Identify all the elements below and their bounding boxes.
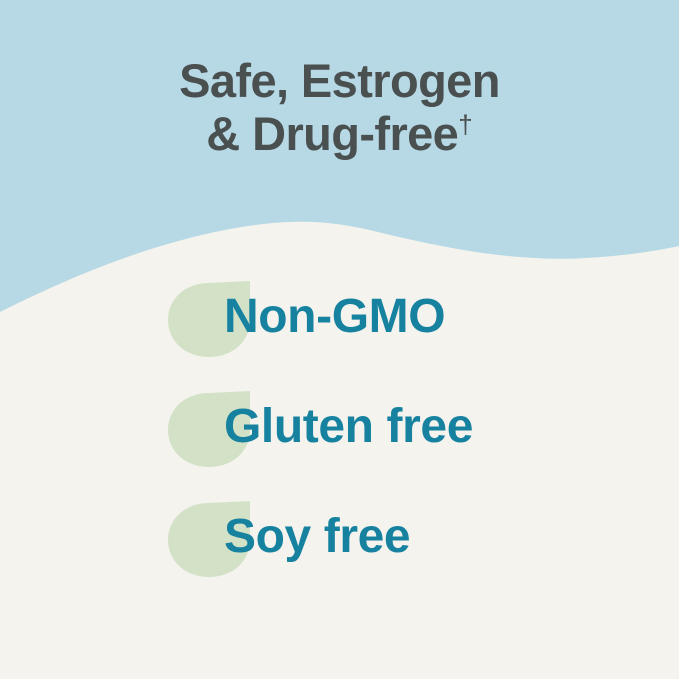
product-benefits-panel: Safe, Estrogen & Drug-free† Non-GMO Glut… — [0, 0, 679, 679]
list-item: Gluten free — [0, 388, 679, 498]
heading-line-1: Safe, Estrogen — [0, 54, 679, 107]
footnote-dagger-symbol: † — [458, 109, 472, 139]
benefit-label: Soy free — [224, 498, 410, 576]
benefit-label: Non-GMO — [224, 278, 445, 356]
list-item: Non-GMO — [0, 278, 679, 388]
heading-line-2: & Drug-free† — [0, 107, 679, 160]
benefits-list: Non-GMO Gluten free Soy free — [0, 278, 679, 608]
benefit-label: Gluten free — [224, 388, 473, 466]
list-item: Soy free — [0, 498, 679, 608]
heading-line-2-text: & Drug-free — [206, 107, 458, 160]
panel-heading: Safe, Estrogen & Drug-free† — [0, 54, 679, 160]
